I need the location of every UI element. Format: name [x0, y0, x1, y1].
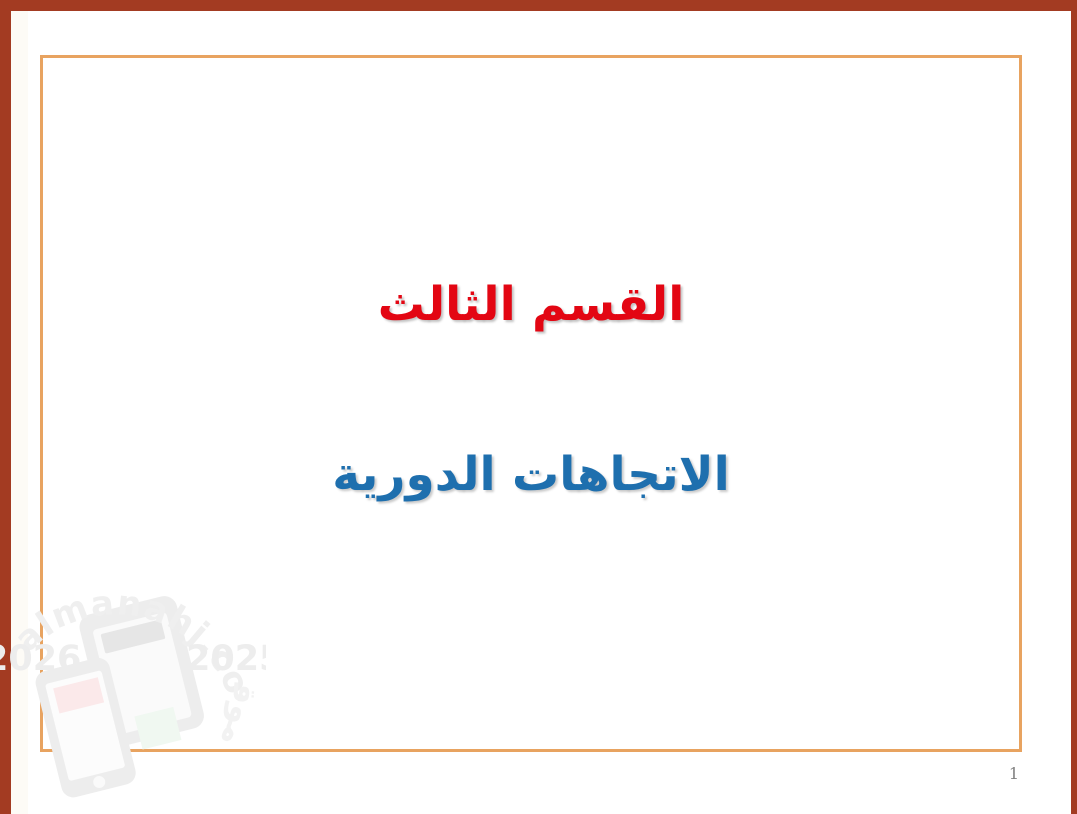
frame-gutter-left — [11, 11, 28, 814]
frame-rail-top — [0, 0, 1077, 11]
topic-title: الاتجاهات الدورية — [40, 448, 1022, 502]
page-number: 1 — [1009, 764, 1019, 783]
section-title: القسم الثالث — [40, 278, 1022, 332]
content-border — [40, 55, 1022, 752]
frame-rail-left — [0, 0, 11, 814]
slide-page: almanahj.com/ae موقع المناهج الإماراتية … — [0, 0, 1077, 814]
frame-rail-right — [1071, 0, 1077, 814]
